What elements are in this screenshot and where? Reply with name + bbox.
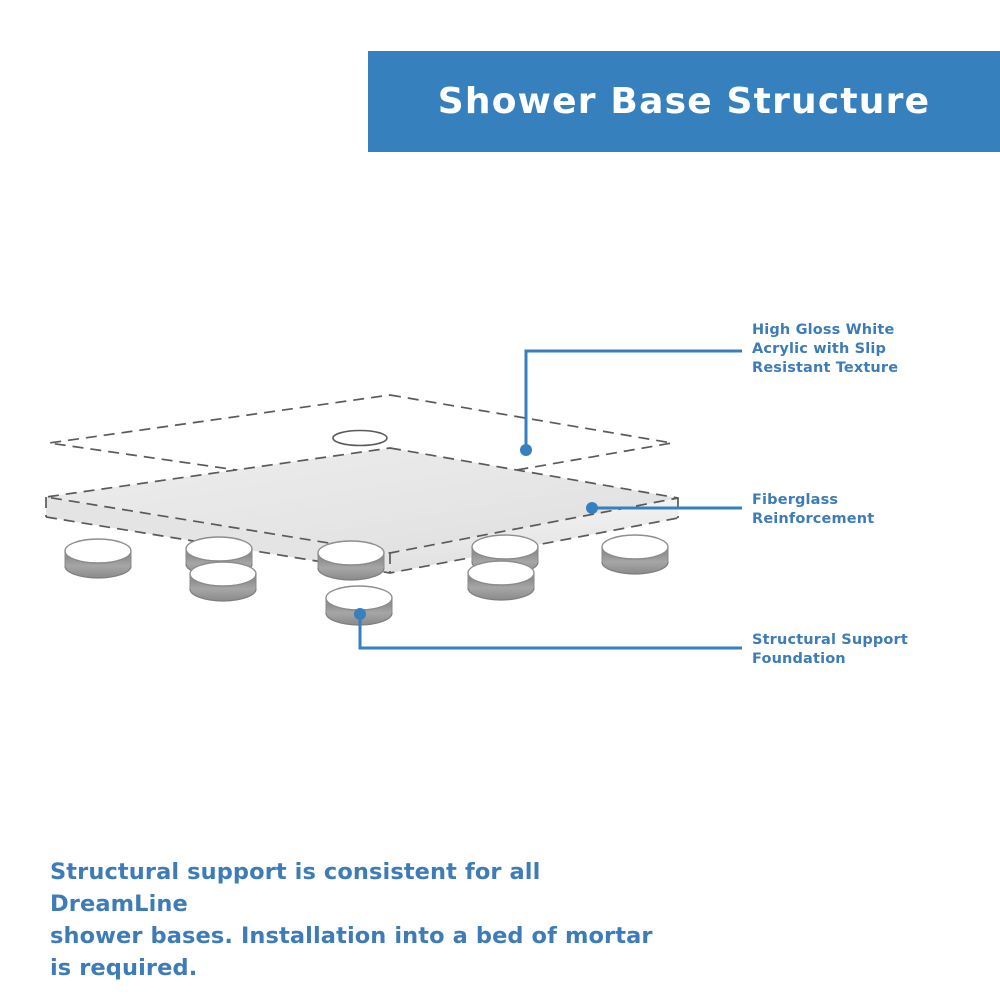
support-ring bbox=[472, 535, 538, 574]
support-ring bbox=[318, 541, 384, 580]
callout-label-acrylic: High Gloss White Acrylic with Slip Resis… bbox=[752, 321, 898, 378]
support-ring bbox=[190, 562, 256, 601]
slab-left-edge bbox=[46, 497, 390, 573]
fiberglass-slab bbox=[46, 448, 678, 573]
acrylic-panel-outline bbox=[49, 395, 672, 492]
leader-dot-fiberglass bbox=[586, 502, 598, 514]
drain-opening bbox=[333, 431, 387, 446]
page-title: Shower Base Structure bbox=[438, 81, 930, 122]
support-rings bbox=[65, 535, 668, 625]
slab-top-face bbox=[46, 448, 678, 553]
slab-right-edge bbox=[390, 498, 678, 573]
callout-label-fiberglass: Fiberglass Reinforcement bbox=[752, 491, 874, 529]
slab-top-outline bbox=[46, 448, 678, 553]
acrylic-top-panel bbox=[49, 395, 672, 492]
support-ring bbox=[326, 586, 392, 625]
leader-dot-acrylic bbox=[520, 444, 532, 456]
support-ring bbox=[468, 561, 534, 600]
leader-line-acrylic bbox=[526, 351, 742, 450]
header-bar: Shower Base Structure bbox=[368, 51, 1000, 152]
leader-dot-support bbox=[354, 608, 366, 620]
callout-label-support: Structural Support Foundation bbox=[752, 631, 908, 669]
footer-note: Structural support is consistent for all… bbox=[50, 857, 670, 985]
support-ring bbox=[186, 537, 252, 576]
support-ring bbox=[602, 535, 668, 574]
callout-leaders bbox=[354, 351, 742, 648]
support-ring bbox=[65, 539, 131, 578]
page-root: Shower Base Structure bbox=[0, 0, 1000, 1000]
leader-line-support bbox=[360, 614, 742, 648]
slab-bottom-outline bbox=[46, 517, 678, 573]
